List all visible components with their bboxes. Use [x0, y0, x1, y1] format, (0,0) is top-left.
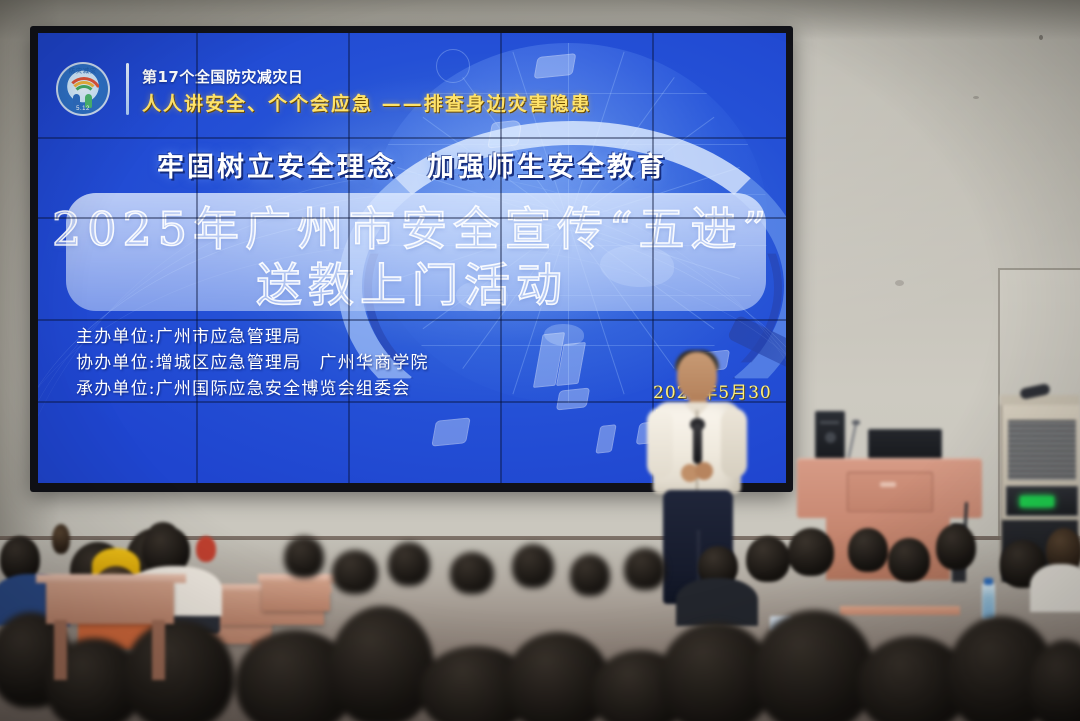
audience-head — [848, 528, 888, 572]
audience-head — [196, 536, 216, 562]
tower-drive-slot — [820, 421, 839, 424]
emblem-divider — [126, 63, 129, 115]
panel-seam-vertical — [348, 33, 350, 483]
podium-latch[interactable] — [880, 482, 896, 487]
audience-head — [624, 548, 666, 590]
wall-blemish — [895, 280, 904, 286]
speaker-head — [677, 352, 717, 400]
organizer-undertaker: 承办单位:广州国际应急安全博览会组委会 — [76, 377, 429, 403]
audience-head — [124, 620, 234, 721]
main-title-line1: 2025年广州市安全宣传“五进” — [52, 202, 772, 256]
disaster-prevention-emblem-icon: 防灾减灾 5.12 — [56, 62, 110, 116]
slide-subtitle: 牢固树立安全理念 加强师生安全教育 — [38, 145, 786, 184]
panel-seam-horizontal — [38, 217, 786, 219]
tower-power-button[interactable] — [825, 432, 836, 443]
microphone-icon — [693, 424, 702, 464]
audience-head — [888, 538, 930, 582]
audience-head — [936, 524, 976, 570]
desk-leg — [152, 620, 165, 680]
speaker-right-arm — [721, 408, 747, 478]
audience-head — [512, 544, 554, 588]
speaker-right-hand — [695, 462, 713, 480]
panel-seam-horizontal — [38, 319, 786, 321]
main-title-line2: 送教上门活动 — [38, 257, 786, 313]
audience-shoulders — [676, 578, 758, 626]
bottle-cap — [984, 578, 993, 585]
desk — [46, 582, 174, 624]
slide-header-line2: 人人讲安全、个个会应急 ——排查身边灾害隐患 — [142, 89, 592, 116]
audience-head — [332, 550, 378, 594]
panel-seam-vertical — [196, 33, 198, 483]
panel-seam-horizontal — [38, 137, 786, 139]
rack-status-led — [1020, 496, 1054, 507]
audience-head — [450, 552, 494, 594]
lecture-hall-scene: 防灾减灾 5.12 第17个全国防灾减灾日 人人讲安全、个个会应急 ——排查身边… — [0, 0, 1080, 721]
wall-blemish — [1039, 35, 1043, 40]
rack-ventilation-grill — [1008, 420, 1076, 480]
audience-head — [746, 536, 790, 582]
emblem-bottom-text: 5.12 — [58, 106, 108, 112]
organizer-host: 主办单位:广州市应急管理局 — [76, 325, 429, 351]
audience-head — [52, 524, 70, 554]
podium-front-panel — [847, 472, 933, 512]
audience-head — [754, 610, 874, 721]
emblem-top-text: 防灾减灾 — [58, 66, 108, 75]
desk — [840, 606, 960, 615]
audience-shoulders — [1030, 564, 1080, 612]
audience-head — [570, 554, 610, 596]
desk-leg — [54, 620, 67, 680]
wall-blemish — [973, 96, 979, 99]
audience-head — [388, 542, 430, 586]
water-bottle[interactable] — [982, 582, 995, 620]
audience-area — [0, 520, 1080, 721]
speaker-left-arm — [647, 408, 673, 478]
audience-head — [330, 606, 434, 721]
audience-head — [788, 528, 834, 576]
organizer-coorganizer: 协办单位:增城区应急管理局 广州华商学院 — [76, 351, 429, 377]
gooseneck-microphone-tip — [852, 420, 860, 425]
organizer-list: 主办单位:广州市应急管理局 协办单位:增城区应急管理局 广州华商学院 承办单位:… — [76, 325, 429, 402]
panel-seam-vertical — [500, 33, 502, 483]
desk — [262, 581, 330, 611]
audience-head — [284, 536, 324, 578]
slide-header-line1: 第17个全国防灾减灾日 — [142, 66, 303, 87]
